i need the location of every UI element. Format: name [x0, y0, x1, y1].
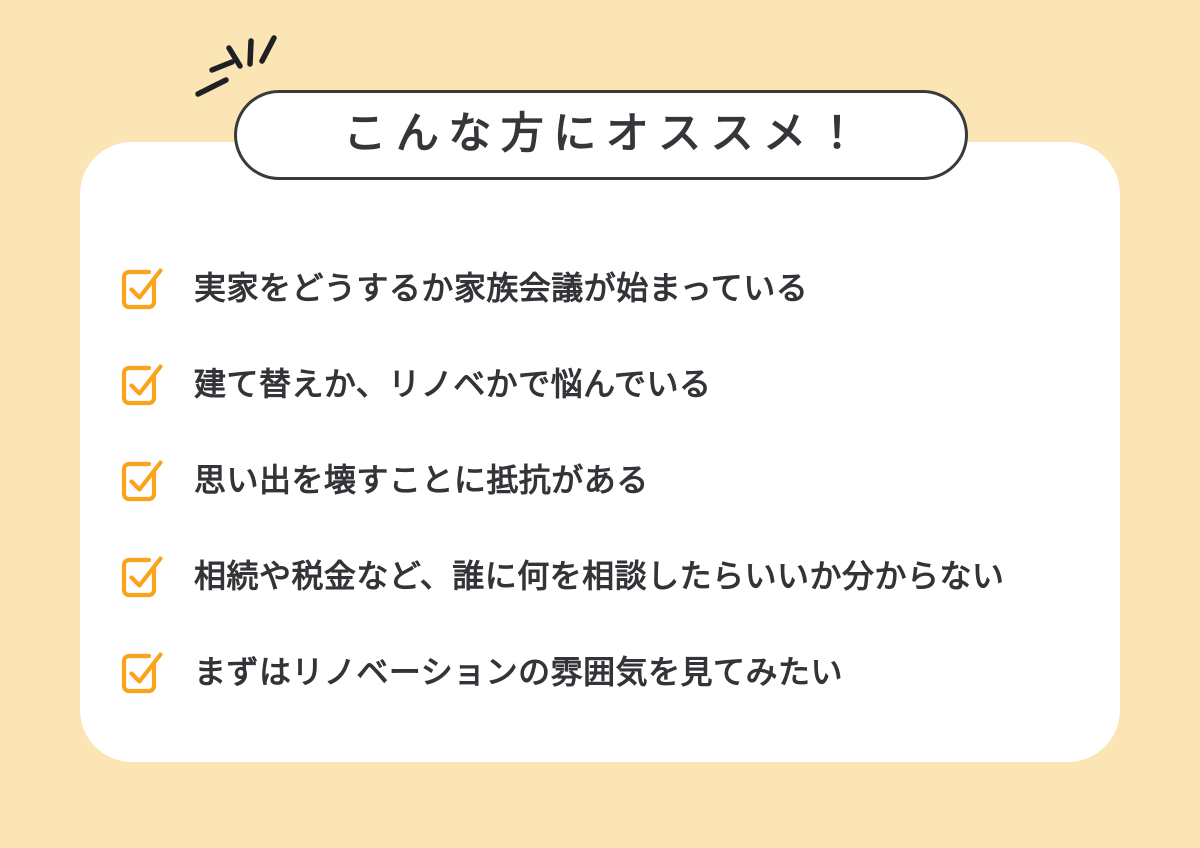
list-item-label: 建て替えか、リノベかで悩んでいる — [194, 365, 711, 403]
list-item: 思い出を壊すことに抵抗がある — [118, 432, 1108, 528]
checkbox-checked-icon — [118, 648, 166, 696]
poster-canvas: こんな方にオススメ！ 実家をどうするか家族会議が始まっている 建て替えか、リノベ… — [0, 0, 1200, 848]
list-item-label: 実家をどうするか家族会議が始まっている — [194, 269, 808, 307]
list-item: 実家をどうするか家族会議が始まっている — [118, 240, 1108, 336]
checkbox-checked-icon — [118, 552, 166, 600]
list-item: 相続や税金など、誰に何を相談したらいいか分からない — [118, 528, 1108, 624]
page-title: こんな方にオススメ！ — [334, 113, 868, 156]
list-item: 建て替えか、リノベかで悩んでいる — [118, 336, 1108, 432]
title-pill: こんな方にオススメ！ — [234, 90, 968, 180]
checkbox-checked-icon — [118, 264, 166, 312]
list-item: まずはリノベーションの雰囲気を見てみたい — [118, 624, 1108, 720]
list-item-label: 思い出を壊すことに抵抗がある — [194, 461, 649, 499]
list-item-label: まずはリノベーションの雰囲気を見てみたい — [194, 653, 843, 691]
checkbox-checked-icon — [118, 456, 166, 504]
list-item-label: 相続や税金など、誰に何を相談したらいいか分からない — [194, 557, 1004, 595]
recommendation-checklist: 実家をどうするか家族会議が始まっている 建て替えか、リノベかで悩んでいる 思い出… — [118, 240, 1108, 720]
checkbox-checked-icon — [118, 360, 166, 408]
